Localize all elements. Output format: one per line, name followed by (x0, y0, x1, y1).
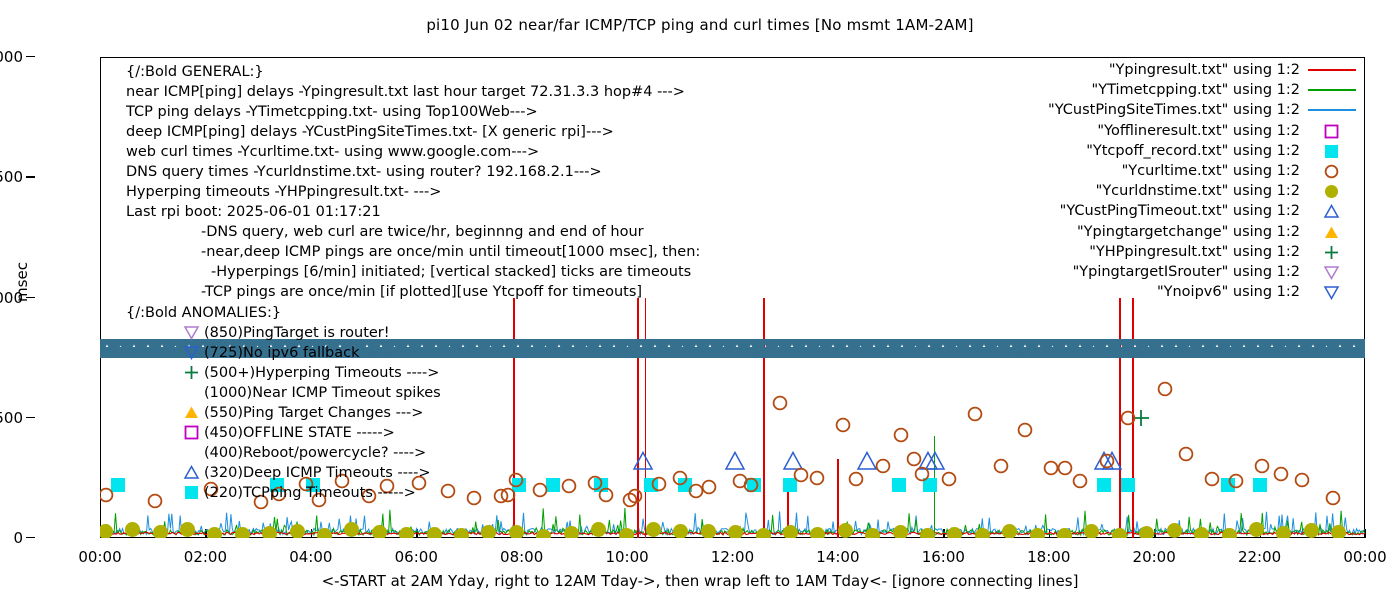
tcpoff-marker-10 (891, 477, 907, 493)
general-heading: {/:Bold GENERAL:} (126, 62, 700, 82)
y-tick-label: 2000 (0, 48, 23, 66)
curl-time-marker-44 (1099, 453, 1115, 469)
x-tick-label: 16:00 (922, 548, 965, 566)
legend-key (1304, 60, 1360, 80)
x-tick-label: 14:00 (816, 548, 859, 566)
curl-time-marker-52 (1294, 472, 1310, 488)
general-line-0: near ICMP[ping] delays -Ypingresult.txt … (126, 82, 700, 102)
legend-entry-11[interactable]: "Ynoipv6" using 1:2 (1048, 282, 1360, 302)
x-tick-label: 20:00 (1133, 548, 1176, 566)
dns-time-marker (1029, 527, 1046, 538)
y-tick-mark (26, 56, 35, 57)
x-tick-label: 18:00 (1027, 548, 1070, 566)
near-icmp-timeout-spike-2 (645, 298, 647, 539)
x-tick-label: 00:00 (1343, 548, 1386, 566)
y-tick-label: 500 (0, 409, 23, 427)
dns-time-marker (426, 526, 443, 538)
circle-filled-icon (1324, 184, 1339, 199)
curl-time-marker-0 (100, 487, 114, 503)
circle-open-icon (1324, 164, 1339, 179)
y-tick-mark (26, 297, 35, 298)
curl-time-marker-37 (941, 471, 957, 487)
curl-time-marker-14 (500, 487, 516, 503)
anomaly-label-7: (320)Deep ICMP Timeouts ----> (204, 465, 431, 481)
dns-time-marker (1275, 525, 1292, 538)
dns-time-marker (371, 524, 388, 538)
curl-time-marker-12 (466, 490, 482, 506)
dns-time-marker (974, 527, 991, 538)
curl-time-marker-31 (835, 417, 851, 433)
legend-entry-2[interactable]: "YCustPingSiteTimes.txt" using 1:2 (1048, 100, 1360, 120)
square-filled-icon (184, 485, 199, 500)
general-line-4: DNS query times -Ycurldnstime.txt- using… (126, 162, 700, 182)
curl-time-marker-53 (1325, 490, 1341, 506)
general-subline-2: -Hyperpings [6/min] initiated; [vertical… (126, 262, 700, 282)
dns-time-marker (809, 526, 826, 538)
x-tick-label: 02:00 (184, 548, 227, 566)
anomalies-annotation-block: {/:Bold ANOMALIES:} (850)PingTarget is r… (126, 303, 441, 503)
anomaly-row-1: (725)No ipv6 fallback (126, 343, 441, 363)
curl-time-marker-40 (1017, 422, 1033, 438)
dns-time-marker (316, 527, 333, 538)
legend-line-key (1308, 69, 1356, 71)
dns-time-marker (1248, 521, 1265, 538)
dns-time-marker (1330, 524, 1347, 538)
legend-key (1304, 282, 1360, 302)
curl-time-marker-50 (1254, 458, 1270, 474)
curl-time-marker-16 (532, 482, 548, 498)
legend-entry-6[interactable]: "Ycurldnstime.txt" using 1:2 (1048, 181, 1360, 201)
curl-time-marker-43 (1072, 473, 1088, 489)
anomaly-row-6: (400)Reboot/powercycle? ----> (126, 443, 441, 463)
dns-time-marker (100, 523, 114, 538)
legend-key (1304, 161, 1360, 181)
curl-time-marker-22 (651, 476, 667, 492)
x-tick-label: 22:00 (1238, 548, 1281, 566)
dns-time-marker (124, 521, 141, 538)
page-title: pi10 Jun 02 near/far ICMP/TCP ping and c… (0, 16, 1400, 34)
x-tick-label: 06:00 (395, 548, 438, 566)
legend-entry-9[interactable]: "YHPpingresult.txt" using 1:2 (1048, 242, 1360, 262)
x-tick-label: 10:00 (605, 548, 648, 566)
general-line-5: Hyperping timeouts -YHPpingresult.txt- -… (126, 182, 700, 202)
legend-key (1304, 201, 1360, 221)
dns-time-marker (261, 525, 278, 538)
triangle-up-open-icon (1324, 204, 1339, 219)
y-tick-label: 1500 (0, 168, 23, 186)
tcpoff-marker-15 (1252, 477, 1268, 493)
legend-label: "Ynoipv6" using 1:2 (1157, 284, 1300, 300)
anomaly-row-0: (850)PingTarget is router! (126, 323, 441, 343)
triangle-up-filled-icon (1324, 225, 1339, 240)
legend-key (1304, 222, 1360, 242)
general-subline-0: -DNS query, web curl are twice/hr, begin… (126, 222, 700, 242)
dns-time-marker (179, 521, 196, 538)
general-subline-3: -TCP pings are once/min [if plotted][use… (126, 282, 700, 302)
legend-entry-1[interactable]: "YTimetcpping.txt" using 1:2 (1048, 80, 1360, 100)
curl-time-marker-23 (672, 470, 688, 486)
y-tick-label: 0 (13, 529, 23, 547)
dns-time-marker (1166, 522, 1183, 538)
dns-time-marker (453, 527, 470, 538)
dns-time-marker (1001, 523, 1018, 538)
legend-key (1304, 80, 1360, 100)
dns-time-marker (837, 522, 854, 538)
dns-time-marker (1138, 525, 1155, 538)
general-line-2: deep ICMP[ping] delays -YCustPingSiteTim… (126, 122, 700, 142)
triangle-down-open-icon (1324, 265, 1339, 280)
dns-time-marker (672, 523, 689, 538)
tcpoff-marker-12 (1096, 477, 1112, 493)
dns-time-marker (727, 524, 744, 538)
anomaly-row-3: (1000)Near ICMP Timeout spikes (126, 383, 441, 403)
curl-time-marker-21 (627, 488, 643, 504)
deep-icmp-timeout-marker-0 (633, 451, 653, 471)
dns-time-marker (1111, 527, 1128, 538)
legend-label: "YCustPingSiteTimes.txt" using 1:2 (1048, 102, 1300, 118)
x-tick-label: 00:00 (78, 548, 121, 566)
anomaly-label-2: (500+)Hyperping Timeouts ----> (204, 365, 439, 381)
general-sublines: -DNS query, web curl are twice/hr, begin… (126, 222, 700, 302)
legend-key (1304, 141, 1360, 161)
anomaly-label-6: (400)Reboot/powercycle? ----> (204, 445, 426, 461)
legend-entry-5[interactable]: "Ycurltime.txt" using 1:2 (1048, 161, 1360, 181)
general-lines: near ICMP[ping] delays -Ypingresult.txt … (126, 82, 700, 222)
triangle-up-filled-icon (184, 405, 199, 420)
dns-time-marker (1056, 527, 1073, 538)
legend-label: "Ypingtargetchange" using 1:2 (1077, 224, 1300, 240)
legend-label: "YHPpingresult.txt" using 1:2 (1089, 244, 1300, 260)
triangle-down-open-icon (184, 325, 199, 340)
curl-time-marker-47 (1178, 446, 1194, 462)
dns-time-marker (864, 527, 881, 538)
near-icmp-timeout-spike-3 (763, 298, 765, 539)
legend-key (1304, 100, 1360, 120)
curl-time-marker-29 (793, 467, 809, 483)
dns-time-marker (563, 525, 580, 538)
curl-time-marker-11 (440, 483, 456, 499)
dns-time-marker (700, 523, 717, 538)
square-open-icon (184, 425, 199, 440)
curl-time-marker-38 (967, 406, 983, 422)
legend-entry-10[interactable]: "YpingtargetISrouter" using 1:2 (1048, 262, 1360, 282)
y-tick-mark (26, 176, 35, 177)
square-filled-icon (1324, 144, 1339, 159)
general-subline-1: -near,deep ICMP pings are once/min until… (126, 242, 700, 262)
legend-label: "YTimetcpping.txt" using 1:2 (1092, 82, 1300, 98)
dns-time-marker (398, 526, 415, 538)
curl-time-marker-34 (893, 427, 909, 443)
legend-key (1304, 121, 1360, 141)
general-line-1: TCP ping delays -YTimetcpping.txt- using… (126, 102, 700, 122)
triangle-up-open-icon (184, 465, 199, 480)
dns-time-marker (919, 527, 936, 538)
anomalies-heading: {/:Bold ANOMALIES:} (126, 303, 441, 323)
anomaly-row-8: (220)TCPping Timeouts -----> (126, 483, 441, 503)
dns-time-marker (755, 527, 772, 538)
dns-time-marker (946, 526, 963, 538)
x-tick-label: 08:00 (500, 548, 543, 566)
legend-label: "Ypingresult.txt" using 1:2 (1109, 62, 1300, 78)
curl-time-marker-15 (508, 472, 524, 488)
y-tick-mark (26, 417, 35, 418)
legend-entry-7[interactable]: "YCustPingTimeout.txt" using 1:2 (1048, 201, 1360, 221)
curl-time-marker-35 (906, 451, 922, 467)
curl-time-marker-27 (743, 477, 759, 493)
curl-time-marker-33 (875, 458, 891, 474)
anomaly-row-7: (320)Deep ICMP Timeouts ----> (126, 463, 441, 483)
legend-entry-3[interactable]: "Yofflineresult.txt" using 1:2 (1048, 121, 1360, 141)
general-line-3: web curl times -Ycurltime.txt- using www… (126, 142, 700, 162)
legend-line-key (1308, 109, 1356, 111)
legend-label: "Ytcpoff_record.txt" using 1:2 (1086, 143, 1300, 159)
anomaly-row-4: (550)Ping Target Changes ---> (126, 403, 441, 423)
x-tick-label: 12:00 (711, 548, 754, 566)
y-tick-mark (26, 537, 35, 538)
dns-time-marker (535, 528, 552, 538)
curl-time-marker-51 (1273, 466, 1289, 482)
x-tick-mark (1365, 529, 1366, 538)
curl-time-marker-28 (772, 395, 788, 411)
dns-time-marker (618, 527, 635, 538)
curl-time-marker-25 (701, 479, 717, 495)
y-tick-label: 1000 (0, 289, 23, 307)
triangle-down-open-icon (1324, 285, 1339, 300)
anomaly-row-2: (500+)Hyperping Timeouts ----> (126, 363, 441, 383)
legend-label: "YpingtargetISrouter" using 1:2 (1073, 264, 1300, 280)
plus-icon (184, 365, 199, 380)
dns-time-marker (1193, 526, 1210, 538)
square-open-icon (1324, 124, 1339, 139)
legend-entry-8[interactable]: "Ypingtargetchange" using 1:2 (1048, 222, 1360, 242)
curl-time-marker-42 (1057, 460, 1073, 476)
dns-time-marker (508, 524, 525, 538)
anomalies-rows: (850)PingTarget is router!(725)No ipv6 f… (126, 323, 441, 503)
general-annotation-block: {/:Bold GENERAL:} near ICMP[ping] delays… (126, 62, 700, 302)
legend-entry-4[interactable]: "Ytcpoff_record.txt" using 1:2 (1048, 141, 1360, 161)
dns-time-marker (1083, 523, 1100, 538)
dns-time-marker (152, 524, 169, 538)
deep-icmp-timeout-marker-1 (725, 451, 745, 471)
dns-time-marker (645, 521, 662, 538)
legend-key (1304, 242, 1360, 262)
dns-time-marker (782, 524, 799, 538)
legend-key (1304, 262, 1360, 282)
anomaly-label-1: (725)No ipv6 fallback (204, 345, 359, 361)
curl-time-marker-45 (1120, 410, 1136, 426)
general-line-6: Last rpi boot: 2025-06-01 01:17:21 (126, 202, 700, 222)
legend-label: "Ycurldnstime.txt" using 1:2 (1096, 183, 1300, 199)
curl-time-marker-19 (598, 487, 614, 503)
legend-label: "Yofflineresult.txt" using 1:2 (1097, 123, 1300, 139)
curl-time-marker-48 (1204, 471, 1220, 487)
curl-time-marker-49 (1228, 473, 1244, 489)
anomaly-label-4: (550)Ping Target Changes ---> (204, 405, 423, 421)
legend: "Ypingresult.txt" using 1:2"YTimetcpping… (1048, 60, 1360, 302)
curl-time-marker-32 (848, 471, 864, 487)
anomaly-label-3: (1000)Near ICMP Timeout spikes (204, 385, 441, 401)
curl-time-marker-46 (1157, 381, 1173, 397)
dns-time-marker (480, 524, 497, 538)
curl-time-marker-30 (809, 470, 825, 486)
curl-time-marker-17 (561, 478, 577, 494)
dns-time-marker (590, 521, 607, 538)
x-axis-caption: <-START at 2AM Yday, right to 12AM Tday-… (0, 572, 1400, 590)
legend-line-key (1308, 89, 1356, 91)
dns-time-marker (234, 526, 251, 538)
x-tick-label: 04:00 (289, 548, 332, 566)
anomaly-row-5: (450)OFFLINE STATE -----> (126, 423, 441, 443)
legend-label: "YCustPingTimeout.txt" using 1:2 (1060, 203, 1300, 219)
dns-time-marker (343, 521, 360, 538)
noipv6-marker (1350, 337, 1365, 359)
dns-time-marker (1303, 522, 1320, 538)
legend-key (1304, 181, 1360, 201)
plus-icon (1324, 245, 1339, 260)
curl-time-marker-39 (993, 458, 1009, 474)
dns-time-marker (206, 526, 223, 538)
tcpoff-marker-13 (1120, 477, 1136, 493)
legend-entry-0[interactable]: "Ypingresult.txt" using 1:2 (1048, 60, 1360, 80)
dns-time-marker (892, 524, 909, 538)
dns-time-marker (289, 523, 306, 538)
anomaly-label-5: (450)OFFLINE STATE -----> (204, 425, 395, 441)
triangle-down-open-icon (184, 345, 199, 360)
dns-time-marker (1221, 527, 1238, 538)
legend-label: "Ycurltime.txt" using 1:2 (1122, 163, 1300, 179)
anomaly-label-8: (220)TCPping Timeouts -----> (204, 485, 416, 501)
anomaly-label-0: (850)PingTarget is router! (204, 325, 390, 341)
curl-time-marker-36 (914, 466, 930, 482)
